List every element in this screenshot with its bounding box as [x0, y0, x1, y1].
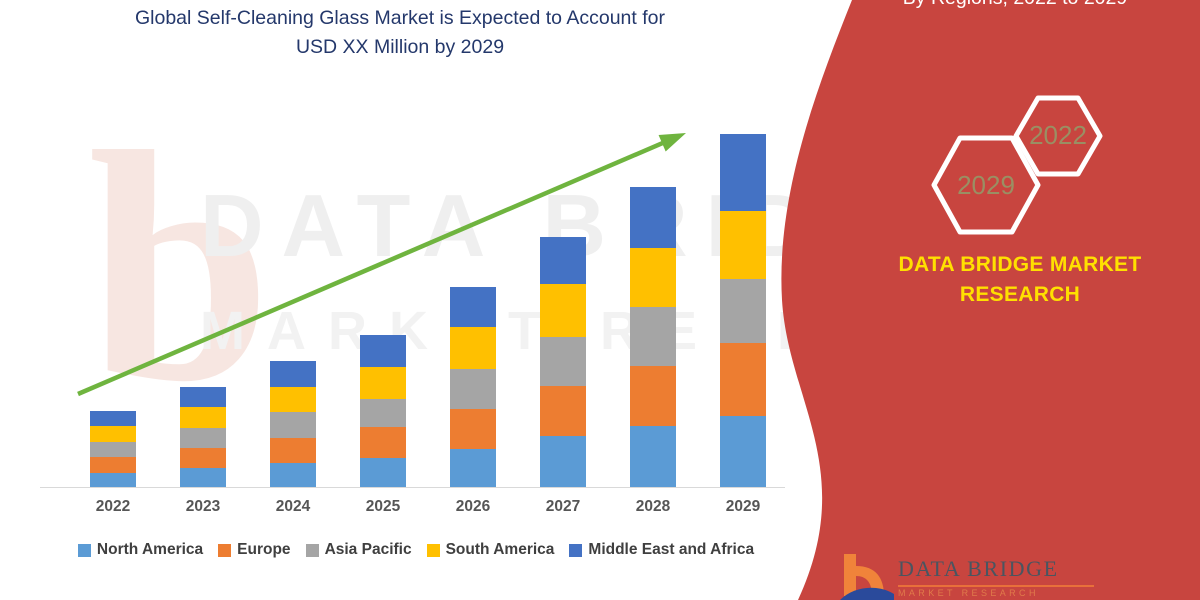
bar-segment-north-america-2023: [180, 468, 226, 488]
chart-area: Global Self-Cleaning Glass Market is Exp…: [0, 0, 800, 600]
x-label-2024: 2024: [263, 498, 323, 516]
x-label-2022: 2022: [83, 498, 143, 516]
x-label-2023: 2023: [173, 498, 233, 516]
bar-segment-middle-east-and-africa-2023: [180, 387, 226, 407]
legend-swatch-icon: [569, 544, 582, 557]
page-title-line-2: USD XX Million by 2029: [296, 36, 504, 58]
bar-segment-asia-pacific-2023: [180, 428, 226, 448]
legend-swatch-icon: [218, 544, 231, 557]
bar-2026: [450, 287, 496, 488]
legend-swatch-icon: [427, 544, 440, 557]
page-title-line-1: Global Self-Cleaning Glass Market is Exp…: [135, 7, 665, 29]
infographic-root: b DATA BRIDGE MARKET RESEARCH Global Sel…: [0, 0, 1200, 600]
legend-label: Asia Pacific: [325, 541, 412, 559]
bridge-logo-icon: [840, 552, 894, 600]
brand-panel: By Regions, 2022 to 2029 2022 2029 DATA …: [780, 0, 1200, 600]
legend-swatch-icon: [78, 544, 91, 557]
page-title: Global Self-Cleaning Glass Market is Exp…: [60, 4, 740, 62]
brand-name-line-2: RESEARCH: [960, 283, 1080, 306]
bar-2028: [630, 187, 676, 488]
hexagon-2022-label: 2022: [1029, 120, 1087, 150]
bar-segment-north-america-2029: [720, 416, 766, 488]
bar-segment-europe-2028: [630, 366, 676, 426]
company-logo: DATA BRIDGE MARKET RESEARCH: [840, 552, 1140, 600]
bar-segment-asia-pacific-2024: [270, 412, 316, 438]
bar-segment-europe-2027: [540, 386, 586, 436]
x-axis-line: [40, 487, 785, 488]
legend-label: Europe: [237, 541, 290, 559]
legend-label: North America: [97, 541, 203, 559]
bar-2029: [720, 134, 766, 488]
x-label-2025: 2025: [353, 498, 413, 516]
bar-segment-south-america-2022: [90, 426, 136, 442]
bar-segment-asia-pacific-2027: [540, 337, 586, 386]
x-label-2026: 2026: [443, 498, 503, 516]
bar-segment-middle-east-and-africa-2024: [270, 361, 316, 387]
hexagon-badges: 2022 2029: [920, 90, 1150, 240]
legend-item-middle-east-and-africa[interactable]: Middle East and Africa: [569, 541, 754, 559]
bar-segment-middle-east-and-africa-2028: [630, 187, 676, 248]
legend-item-south-america[interactable]: South America: [427, 541, 555, 559]
bar-segment-north-america-2028: [630, 426, 676, 488]
bar-2027: [540, 237, 586, 488]
legend-swatch-icon: [306, 544, 319, 557]
hexagon-2029-label: 2029: [957, 170, 1015, 200]
legend-label: South America: [446, 541, 555, 559]
bar-segment-europe-2024: [270, 438, 316, 463]
bar-segment-south-america-2024: [270, 387, 316, 412]
logo-tagline: MARKET RESEARCH: [898, 588, 1039, 598]
legend-label: Middle East and Africa: [588, 541, 754, 559]
bar-2023: [180, 387, 226, 488]
bar-segment-south-america-2025: [360, 367, 406, 399]
legend-item-europe[interactable]: Europe: [218, 541, 290, 559]
bar-segment-europe-2022: [90, 457, 136, 473]
bar-segment-asia-pacific-2029: [720, 279, 766, 343]
bar-segment-north-america-2025: [360, 458, 406, 488]
logo-divider: [898, 585, 1094, 587]
bar-segment-middle-east-and-africa-2026: [450, 287, 496, 327]
x-label-2028: 2028: [623, 498, 683, 516]
x-axis-labels: 20222023202420252026202720282029: [40, 498, 785, 524]
x-label-2027: 2027: [533, 498, 593, 516]
bar-segment-south-america-2026: [450, 327, 496, 369]
bar-segment-middle-east-and-africa-2029: [720, 134, 766, 211]
bar-segment-asia-pacific-2022: [90, 442, 136, 457]
bar-segment-middle-east-and-africa-2025: [360, 335, 406, 367]
bar-segment-europe-2023: [180, 448, 226, 468]
bar-2024: [270, 361, 316, 488]
bar-segment-middle-east-and-africa-2027: [540, 237, 586, 284]
bar-segment-middle-east-and-africa-2022: [90, 411, 136, 426]
x-label-2029: 2029: [713, 498, 773, 516]
bar-2022: [90, 411, 136, 488]
bar-segment-asia-pacific-2028: [630, 307, 676, 366]
stacked-bar-plot: [40, 100, 780, 488]
bar-segment-north-america-2022: [90, 473, 136, 488]
brand-panel-content: By Regions, 2022 to 2029 2022 2029 DATA …: [780, 0, 1200, 600]
bar-segment-asia-pacific-2026: [450, 369, 496, 409]
brand-name: DATA BRIDGE MARKET RESEARCH: [860, 250, 1180, 310]
bar-segment-south-america-2027: [540, 284, 586, 337]
chart-legend: North AmericaEuropeAsia PacificSouth Ame…: [46, 538, 786, 562]
bar-segment-north-america-2027: [540, 436, 586, 488]
bar-segment-europe-2026: [450, 409, 496, 449]
bar-2025: [360, 335, 406, 488]
bar-segment-asia-pacific-2025: [360, 399, 406, 427]
brand-name-line-1: DATA BRIDGE MARKET: [899, 253, 1142, 276]
legend-item-north-america[interactable]: North America: [78, 541, 203, 559]
bar-segment-north-america-2024: [270, 463, 316, 488]
logo-wordmark: DATA BRIDGE: [898, 556, 1059, 582]
bar-segment-europe-2029: [720, 343, 766, 416]
bar-segment-south-america-2029: [720, 211, 766, 279]
bar-segment-south-america-2023: [180, 407, 226, 428]
bar-segment-europe-2025: [360, 427, 406, 458]
panel-subtitle: By Regions, 2022 to 2029: [840, 0, 1190, 12]
bar-segment-south-america-2028: [630, 248, 676, 307]
bar-segment-north-america-2026: [450, 449, 496, 488]
legend-item-asia-pacific[interactable]: Asia Pacific: [306, 541, 412, 559]
